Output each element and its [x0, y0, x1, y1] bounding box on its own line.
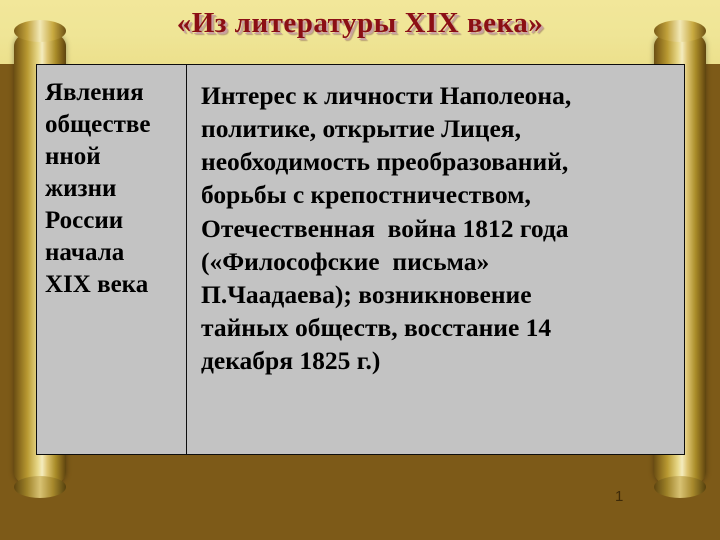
table-cell-description-line: Отечественная война 1812 года — [201, 212, 674, 245]
table-cell-topic-line: России — [45, 205, 186, 237]
table-cell-description: Интерес к личности Наполеона, политике, … — [187, 65, 684, 454]
table-cell-description-line: («Философские письма» — [201, 245, 674, 278]
table-cell-topic-line: XIX века — [45, 269, 186, 301]
table-cell-topic-line: обществе — [45, 109, 186, 141]
scroll-roll-right-bottom-cap — [654, 476, 706, 498]
scroll-roll-left-bottom-cap — [14, 476, 66, 498]
table-cell-description-line: борьбы с крепостничеством, — [201, 178, 674, 211]
presentation-slide: «Из литературы XIX века» Явления обществ… — [0, 0, 720, 540]
table-cell-topic-line: жизни — [45, 173, 186, 205]
page-number: 1 — [615, 488, 623, 505]
table-cell-description-line: декабря 1825 г.) — [201, 344, 674, 377]
content-table: Явления обществе нной жизни России начал… — [36, 64, 685, 455]
table-cell-topic-line: начала — [45, 237, 186, 269]
table-cell-description-line: необходимость преобразований, — [201, 145, 674, 178]
table-cell-description-line: П.Чаадаева); возникновение — [201, 278, 674, 311]
table-cell-description-line: политике, открытие Лицея, — [201, 112, 674, 145]
slide-title: «Из литературы XIX века» — [0, 7, 720, 40]
table-cell-topic-line: нной — [45, 141, 186, 173]
table-cell-description-line: тайных обществ, восстание 14 — [201, 311, 674, 344]
table-cell-description-line: Интерес к личности Наполеона, — [201, 79, 674, 112]
table-cell-topic: Явления обществе нной жизни России начал… — [37, 65, 187, 454]
table-cell-topic-line: Явления — [45, 77, 186, 109]
